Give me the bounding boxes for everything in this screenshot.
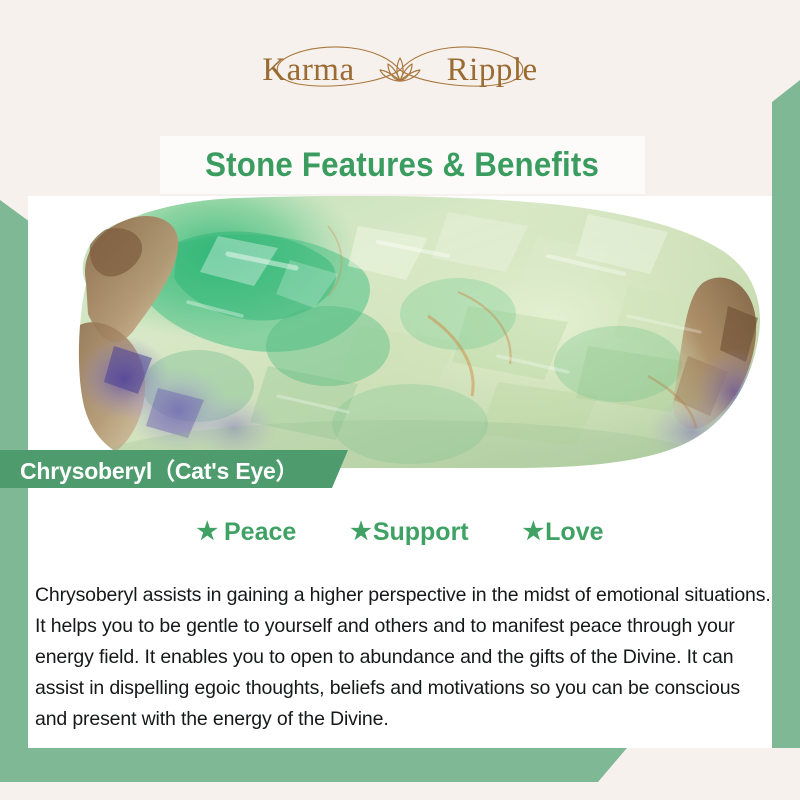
stone-name-label: Chrysoberyl（Cat's Eye） [0,452,298,486]
brand-name-left: Karma [262,54,354,87]
stone-photo [28,196,772,468]
keyword-list: ★ Peace ★ Support ★ Love [28,512,772,552]
page-title: Stone Features & Benefits [206,146,600,185]
star-icon: ★ [196,520,218,544]
headline-banner: Stone Features & Benefits [160,136,645,194]
keyword-label: Peace [224,518,296,547]
stone-name-tag: Chrysoberyl（Cat's Eye） [0,450,348,488]
keyword-love: ★ Love [523,518,604,547]
keyword-label: Support [373,518,469,547]
stone-photo-image [28,196,772,468]
star-icon: ★ [350,520,372,544]
brand-name-right: Ripple [447,54,538,87]
frame-accent-bottom [0,742,632,782]
lotus-icon [377,54,423,86]
keyword-peace: ★ Peace [196,518,296,547]
stone-info-poster: Karma Ripple Stone Features & Benefits [0,0,800,800]
keyword-support: ★ Support [350,518,468,547]
brand-logo: Karma Ripple [0,34,800,106]
stone-description: Chrysoberyl assists in gaining a higher … [35,580,775,735]
star-icon: ★ [523,520,545,544]
frame-accent-right [772,80,800,748]
keyword-label: Love [545,518,603,547]
